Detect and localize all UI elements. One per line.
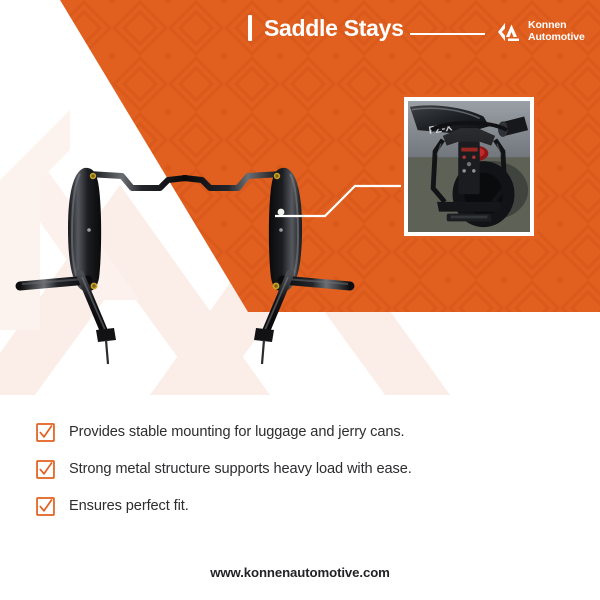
checkbox-checked-icon [36, 497, 55, 516]
list-item: Ensures perfect fit. [36, 494, 576, 518]
horizontal-rule-icon [410, 33, 485, 35]
inset-photo-frame: FZ-X [401, 94, 537, 239]
checkbox-checked-icon [36, 460, 55, 479]
list-item: Provides stable mounting for luggage and… [36, 420, 576, 444]
page-title: Saddle Stays [264, 15, 404, 41]
website-url[interactable]: www.konnenautomotive.com [210, 565, 390, 580]
title-group: Saddle Stays [248, 15, 404, 41]
vertical-bar-icon [248, 15, 252, 41]
brand-text: Konnen Automotive [528, 20, 585, 43]
poster-footer: www.konnenautomotive.com [0, 564, 600, 582]
brand-name-line1: Konnen [528, 20, 585, 32]
list-item-label: Provides stable mounting for luggage and… [69, 422, 405, 442]
list-item-label: Strong metal structure supports heavy lo… [69, 459, 412, 479]
brand-name-line2: Automotive [528, 32, 585, 44]
inset-photo-content: FZ-X [408, 101, 530, 232]
list-item-label: Ensures perfect fit. [69, 496, 189, 516]
poster-header: Saddle Stays Konnen Automotive [0, 0, 600, 66]
checkbox-checked-icon [36, 423, 55, 442]
konnen-chevron-logo-icon [495, 21, 521, 43]
list-item: Strong metal structure supports heavy lo… [36, 457, 576, 481]
brand-lockup: Konnen Automotive [495, 20, 585, 43]
feature-list: Provides stable mounting for luggage and… [36, 420, 576, 531]
saddle-stay-installed-photo: FZ-X [408, 101, 530, 232]
product-poster: Saddle Stays Konnen Automotive [0, 0, 600, 600]
